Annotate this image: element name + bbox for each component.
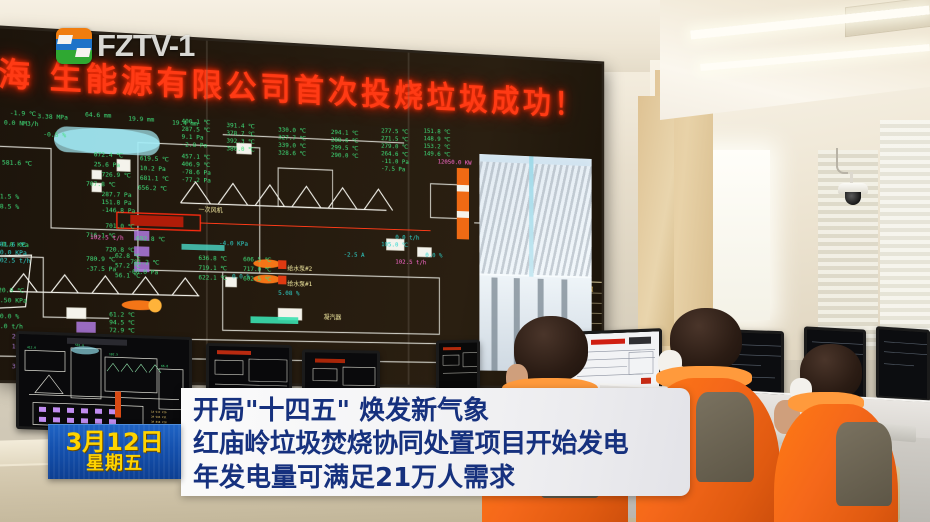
- svg-text:-37.5 Pa: -37.5 Pa: [86, 265, 116, 274]
- date-badge: 3月12日 星期五: [48, 424, 181, 479]
- workstation-monitor-1[interactable]: 412.6581.6 102.566.8 1# 912 226 2# 904 2…: [16, 331, 192, 435]
- svg-text:12050.0 KW: 12050.0 KW: [438, 158, 472, 167]
- svg-text:0.0 t/h: 0.0 t/h: [395, 233, 419, 241]
- svg-text:701.0 ℃: 701.0 ℃: [105, 222, 134, 231]
- svg-text:62.8 ℃: 62.8 ℃: [115, 252, 141, 261]
- svg-text:606.5 ℃: 606.5 ℃: [243, 255, 271, 264]
- svg-text:-77.2 Pa: -77.2 Pa: [182, 176, 211, 185]
- svg-text:672.4 ℃: 672.4 ℃: [94, 150, 124, 159]
- svg-text:-7.5 Pa: -7.5 Pa: [381, 165, 405, 174]
- svg-text:581.6 ℃: 581.6 ℃: [2, 158, 32, 167]
- svg-text:给水泵#2: 给水泵#2: [287, 263, 312, 272]
- camera-cable: [836, 148, 848, 174]
- svg-text:102.5 t/h: 102.5 t/h: [0, 256, 31, 265]
- svg-text:0.0 %: 0.0 %: [425, 251, 442, 259]
- svg-text:290.0 ℃: 290.0 ℃: [331, 151, 359, 160]
- svg-text:719.1 ℃: 719.1 ℃: [198, 264, 227, 273]
- svg-text:3.38 MPa: 3.38 MPa: [37, 112, 68, 121]
- svg-text:5.08 %: 5.08 %: [278, 289, 300, 297]
- svg-text:412.6: 412.6: [27, 345, 36, 349]
- ptz-dome-camera-icon: [838, 172, 868, 206]
- svg-text:622.1 ℃: 622.1 ℃: [198, 273, 227, 282]
- svg-text:102.5: 102.5: [109, 352, 118, 356]
- svg-text:105.0 ℃: 105.0 ℃: [381, 240, 408, 248]
- workstation-monitor-8[interactable]: [876, 326, 930, 402]
- headline-line-2: 红庙岭垃圾焚烧协同处置项目开始发电: [193, 428, 676, 461]
- svg-text:656.2 ℃: 656.2 ℃: [138, 184, 167, 193]
- svg-text:66.8: 66.8: [161, 364, 168, 368]
- svg-text:57.2 ℃: 57.2 ℃: [115, 261, 141, 270]
- svg-text:717.0 ℃: 717.0 ℃: [243, 265, 271, 274]
- news-headline-banner: 开局"十四五" 焕发新气象 红庙岭垃圾焚烧协同处置项目开始发电 年发电量可满足2…: [181, 388, 690, 496]
- svg-text:-0.5 %: -0.5 %: [43, 130, 66, 139]
- svg-text:21.5 %: 21.5 %: [0, 192, 19, 201]
- broadcast-video-frame: 海 生能源有限公司首次投烧垃圾成功！: [0, 0, 930, 522]
- svg-text:602.5 ℃: 602.5 ℃: [243, 275, 271, 283]
- svg-text:-146.8 Pa: -146.8 Pa: [102, 206, 136, 215]
- svg-text:102.5 t/h: 102.5 t/h: [395, 258, 426, 266]
- headline-line-3: 年发电量可满足21万人需求: [193, 462, 676, 495]
- channel-logo: FZTV-1: [56, 28, 194, 64]
- svg-text:636.8 ℃: 636.8 ℃: [198, 254, 227, 263]
- svg-text:56.1 ℃: 56.1 ℃: [115, 271, 141, 280]
- svg-text:780.9 ℃: 780.9 ℃: [86, 255, 116, 264]
- wood-pillar-panel: [638, 96, 674, 346]
- svg-text:619.5 ℃: 619.5 ℃: [140, 154, 169, 163]
- svg-text:-2.5 A: -2.5 A: [344, 251, 365, 259]
- svg-text:1.50 KPa: 1.50 KPa: [0, 296, 27, 305]
- svg-text:给水泵#1: 给水泵#1: [287, 279, 312, 288]
- svg-text:64.6 mm: 64.6 mm: [85, 111, 111, 120]
- svg-text:一次风机: 一次风机: [198, 204, 223, 214]
- svg-text:-1.9 ℃: -1.9 ℃: [10, 109, 36, 118]
- svg-text:20.9 ℃: 20.9 ℃: [0, 286, 24, 295]
- svg-text:707.8 ℃: 707.8 ℃: [86, 180, 116, 189]
- channel-logo-text: FZTV-1: [97, 28, 194, 64]
- headline-line-1: 开局"十四五" 焕发新气象: [193, 395, 676, 428]
- svg-text:692.8 ℃: 692.8 ℃: [136, 235, 165, 244]
- svg-text:0.0 NM3/h: 0.0 NM3/h: [4, 119, 39, 129]
- date-text: 3月12日: [65, 430, 163, 454]
- svg-text:19.9 mm: 19.9 mm: [128, 115, 154, 124]
- svg-text:-2.8 Pa: -2.8 Pa: [182, 141, 208, 150]
- svg-text:0.0 t/h: 0.0 t/h: [0, 322, 23, 331]
- svg-text:681.1 ℃: 681.1 ℃: [140, 174, 169, 183]
- svg-text:726.9 ℃: 726.9 ℃: [102, 170, 131, 179]
- svg-text:-4.0 KPa: -4.0 KPa: [219, 239, 248, 248]
- svg-text:380.0 ℃: 380.0 ℃: [226, 144, 254, 153]
- svg-text:1# 912 226: 1# 912 226: [151, 410, 167, 415]
- svg-text:18.5 %: 18.5 %: [0, 202, 19, 211]
- svg-text:40.0 %: 40.0 %: [0, 312, 19, 320]
- svg-text:10.2 Pa: 10.2 Pa: [140, 164, 166, 173]
- svg-text:凝汽器: 凝汽器: [324, 312, 342, 321]
- svg-text:2# 904 231: 2# 904 231: [151, 415, 167, 420]
- svg-text:581.6: 581.6: [75, 343, 84, 347]
- weekday-text: 星期五: [86, 454, 143, 474]
- svg-text:102.5 t/h: 102.5 t/h: [90, 233, 124, 242]
- svg-text:328.6 ℃: 328.6 ℃: [278, 149, 306, 158]
- svg-text:25.6 Pa: 25.6 Pa: [94, 160, 120, 169]
- fztv-square-logo-icon: [56, 28, 92, 64]
